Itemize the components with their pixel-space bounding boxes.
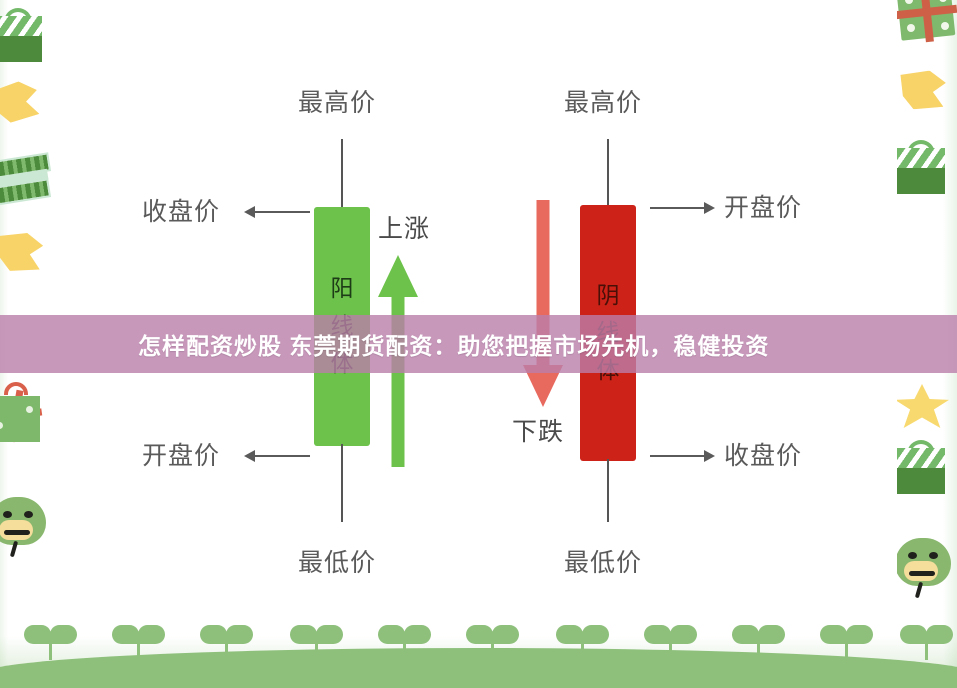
bearish-open-arrow-head <box>704 202 715 214</box>
flag-icon <box>897 68 947 113</box>
sprout-icon <box>820 626 874 660</box>
bearish-lower-wick <box>607 459 609 522</box>
gift-striped-icon <box>0 16 42 62</box>
star-icon <box>897 384 949 428</box>
bullish-lower-wick <box>341 444 343 522</box>
bearish-close-arrow-line <box>650 455 705 457</box>
sprout-icon <box>556 626 610 660</box>
headline-text: 怎样配资炒股 东莞期货配资：助您把握市场先机，稳健投资 <box>138 327 769 361</box>
bullish-close-arrow-head <box>244 206 255 218</box>
bullish-open-arrow-line <box>255 455 310 457</box>
poster-canvas: 阳 线 体 最高价 最低价 收盘价 开盘价 上涨 阴 线 体 最高价 最低价 开… <box>0 0 957 688</box>
bullish-close-arrow-line <box>255 211 310 213</box>
frog-icon <box>0 493 46 551</box>
bullish-low-label: 最低价 <box>298 543 376 579</box>
flag-icon <box>0 80 40 125</box>
bearish-close-arrow-head <box>704 450 715 462</box>
grass-border <box>0 618 957 688</box>
downtrend-arrow-icon <box>523 200 563 407</box>
money-bundle-icon <box>0 155 46 207</box>
downtrend-label: 下跌 <box>512 412 564 448</box>
gift-red-ribbon-icon <box>0 396 40 442</box>
flag-icon <box>0 229 45 275</box>
gift-striped-icon <box>897 448 945 494</box>
bearish-upper-wick <box>607 139 609 209</box>
sprout-icon <box>112 626 166 660</box>
gift-striped-icon <box>897 148 945 194</box>
sprout-icon <box>732 626 786 660</box>
sprout-icon <box>644 626 698 660</box>
bullish-close-label: 收盘价 <box>142 192 220 228</box>
bullish-high-label: 最高价 <box>298 83 376 119</box>
sprout-icon <box>24 626 78 660</box>
sprout-icon <box>900 626 954 660</box>
uptrend-label: 上涨 <box>378 209 430 245</box>
gift-polka-icon <box>899 0 953 38</box>
sprout-icon <box>466 626 520 660</box>
bearish-low-label: 最低价 <box>564 543 642 579</box>
headline-banner: 怎样配资炒股 东莞期货配资：助您把握市场先机，稳健投资 <box>0 315 957 373</box>
bullish-open-label: 开盘价 <box>142 436 220 472</box>
bullish-open-arrow-head <box>244 450 255 462</box>
sprout-icon <box>200 626 254 660</box>
sprout-icon <box>290 626 344 660</box>
bearish-body-char-1: 阴 <box>597 279 620 312</box>
frog-icon <box>897 534 951 592</box>
bearish-open-arrow-line <box>650 207 705 209</box>
sprout-icon <box>378 626 432 660</box>
bearish-high-label: 最高价 <box>564 83 642 119</box>
bearish-close-label: 收盘价 <box>724 436 802 472</box>
bullish-body-char-1: 阳 <box>331 272 354 305</box>
bullish-upper-wick <box>341 139 343 209</box>
bearish-open-label: 开盘价 <box>724 188 802 224</box>
